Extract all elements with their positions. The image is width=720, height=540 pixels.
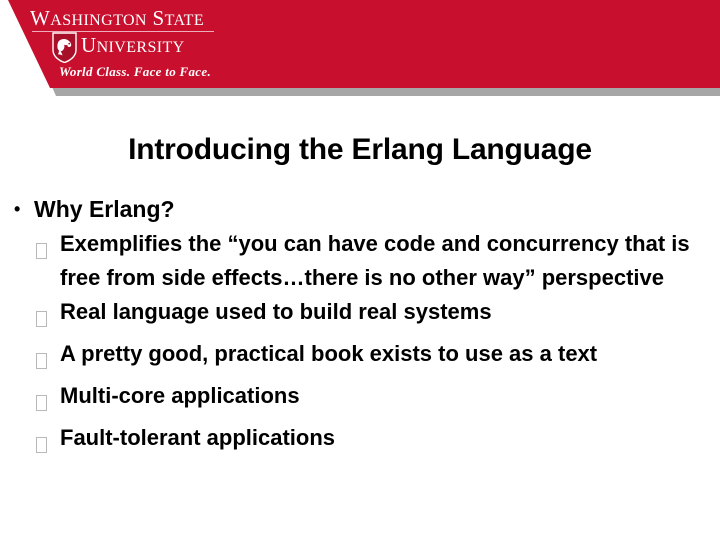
- list-item-label: Exemplifies the “you can have code and c…: [60, 227, 710, 295]
- list-item: A pretty good, practical book exists to …: [36, 337, 714, 379]
- wsu-wordmark-line2: UNIVERSITY: [81, 33, 185, 60]
- list-item: • Why Erlang?: [14, 193, 714, 226]
- slide-header-banner: WASHINGTON STATE UNIVERSITY World Class.…: [0, 0, 720, 112]
- list-item-label: Why Erlang?: [34, 193, 175, 226]
- list-item-label: Real language used to build real systems: [60, 295, 710, 329]
- wsu-wordmark-line1: WASHINGTON STATE: [30, 6, 204, 33]
- tofu-box-icon: [36, 227, 60, 269]
- wsu-tagline: World Class. Face to Face.: [59, 64, 211, 80]
- list-item-label: A pretty good, practical book exists to …: [60, 337, 710, 371]
- slide-body: • Why Erlang? Exemplifies the “you can h…: [14, 193, 714, 463]
- wsu-logo: WASHINGTON STATE UNIVERSITY World Class.…: [24, 6, 294, 86]
- tofu-box-icon: [36, 421, 60, 463]
- list-item-label: Multi-core applications: [60, 379, 710, 413]
- wsu-cougar-shield-icon: [52, 32, 77, 63]
- page-title: Introducing the Erlang Language: [0, 133, 720, 167]
- list-item-label: Fault-tolerant applications: [60, 421, 710, 455]
- list-item: Real language used to build real systems: [36, 295, 714, 337]
- bullet-dot-icon: •: [14, 193, 34, 226]
- tofu-box-icon: [36, 337, 60, 379]
- list-item: Multi-core applications: [36, 379, 714, 421]
- list-item: Exemplifies the “you can have code and c…: [36, 227, 714, 295]
- tofu-box-icon: [36, 379, 60, 421]
- list-item: Fault-tolerant applications: [36, 421, 714, 463]
- tofu-box-icon: [36, 295, 60, 337]
